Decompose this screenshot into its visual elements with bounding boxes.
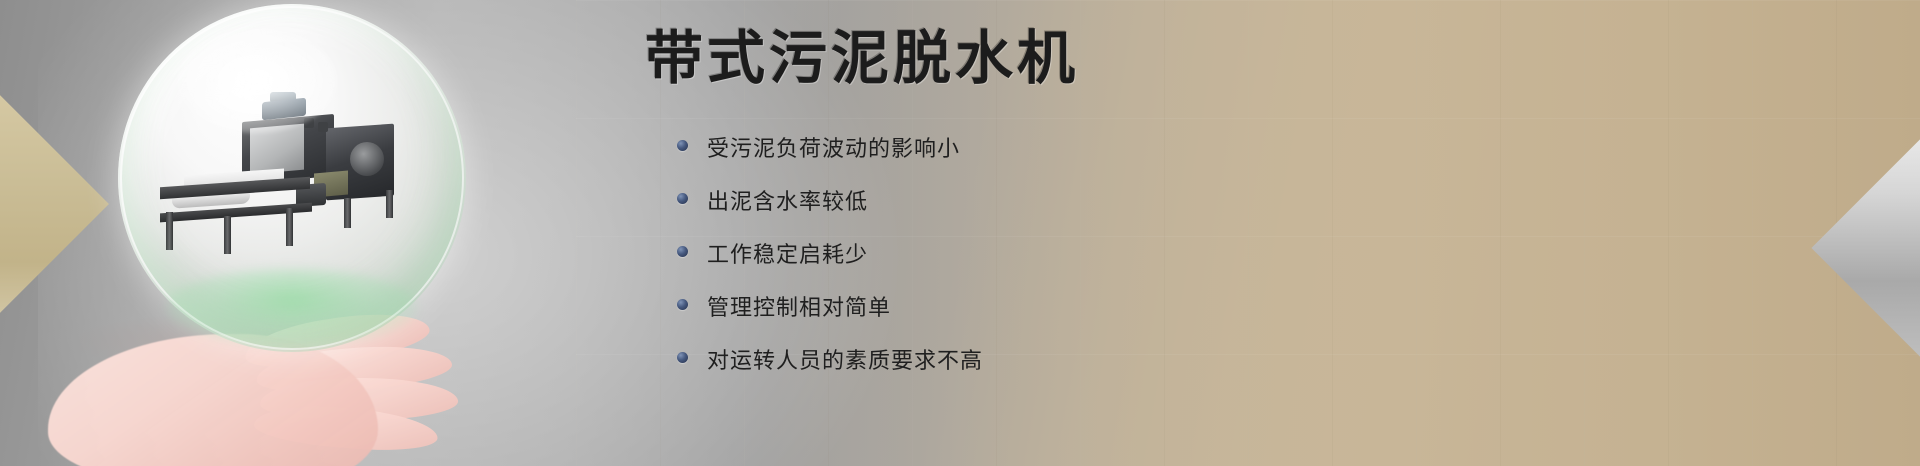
list-item: 工作稳定启耗少 bbox=[675, 237, 1345, 269]
sphere-highlight bbox=[177, 28, 337, 132]
product-banner: 带式污泥脱水机 受污泥负荷波动的影响小 出泥含水率较低 工作稳定启耗少 管理控制… bbox=[0, 0, 1920, 466]
feature-list: 受污泥负荷波动的影响小 出泥含水率较低 工作稳定启耗少 管理控制相对简单 对运转… bbox=[675, 131, 1345, 375]
sphere-green-reflection bbox=[167, 269, 418, 346]
glass-sphere bbox=[118, 4, 466, 352]
list-item: 出泥含水率较低 bbox=[675, 184, 1345, 216]
banner-text-column: 带式污泥脱水机 受污泥负荷波动的影响小 出泥含水率较低 工作稳定启耗少 管理控制… bbox=[645, 26, 1345, 396]
page-title: 带式污泥脱水机 bbox=[645, 26, 1345, 91]
list-item: 管理控制相对简单 bbox=[675, 290, 1345, 322]
list-item: 受污泥负荷波动的影响小 bbox=[675, 131, 1345, 163]
list-item: 对运转人员的素质要求不高 bbox=[675, 343, 1345, 375]
